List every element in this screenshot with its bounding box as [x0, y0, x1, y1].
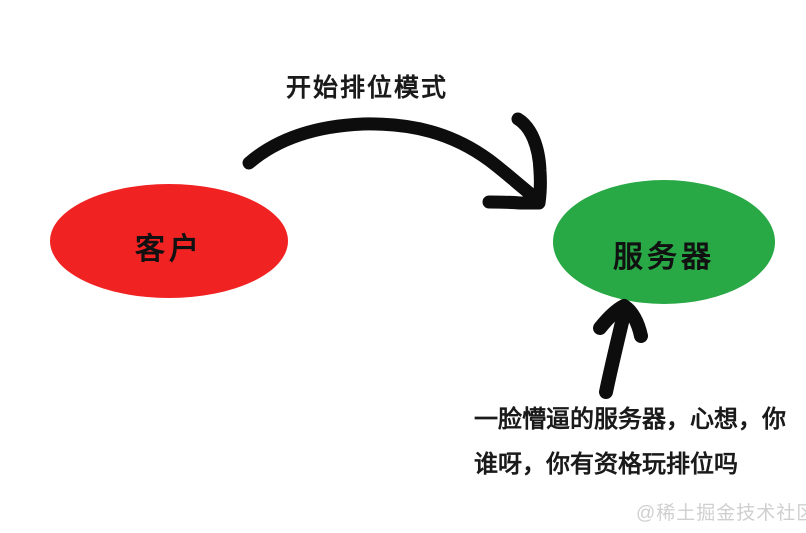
diagram-canvas: 开始排位模式 客户 服务器 一脸懵逼的服务器，心想，你 谁呀，你有资格玩排位吗 … — [0, 0, 806, 533]
curved-arrow-shaft — [249, 124, 533, 196]
annotation-text: 一脸懵逼的服务器，心想，你 谁呀，你有资格玩排位吗 — [474, 398, 806, 488]
client-node-label: 客户 — [50, 224, 288, 268]
client-to-server-arrow — [249, 119, 540, 203]
edge-label-client-to-server: 开始排位模式 — [286, 68, 448, 104]
server-node-label: 服务器 — [553, 232, 775, 276]
annotation-up-arrow — [600, 306, 641, 392]
up-arrow-shaft — [606, 318, 623, 392]
watermark: @稀土掘金技术社区 — [636, 498, 806, 525]
annotation-line-2: 谁呀，你有资格玩排位吗 — [474, 443, 806, 488]
annotation-line-1: 一脸懵逼的服务器，心想，你 — [474, 398, 806, 443]
